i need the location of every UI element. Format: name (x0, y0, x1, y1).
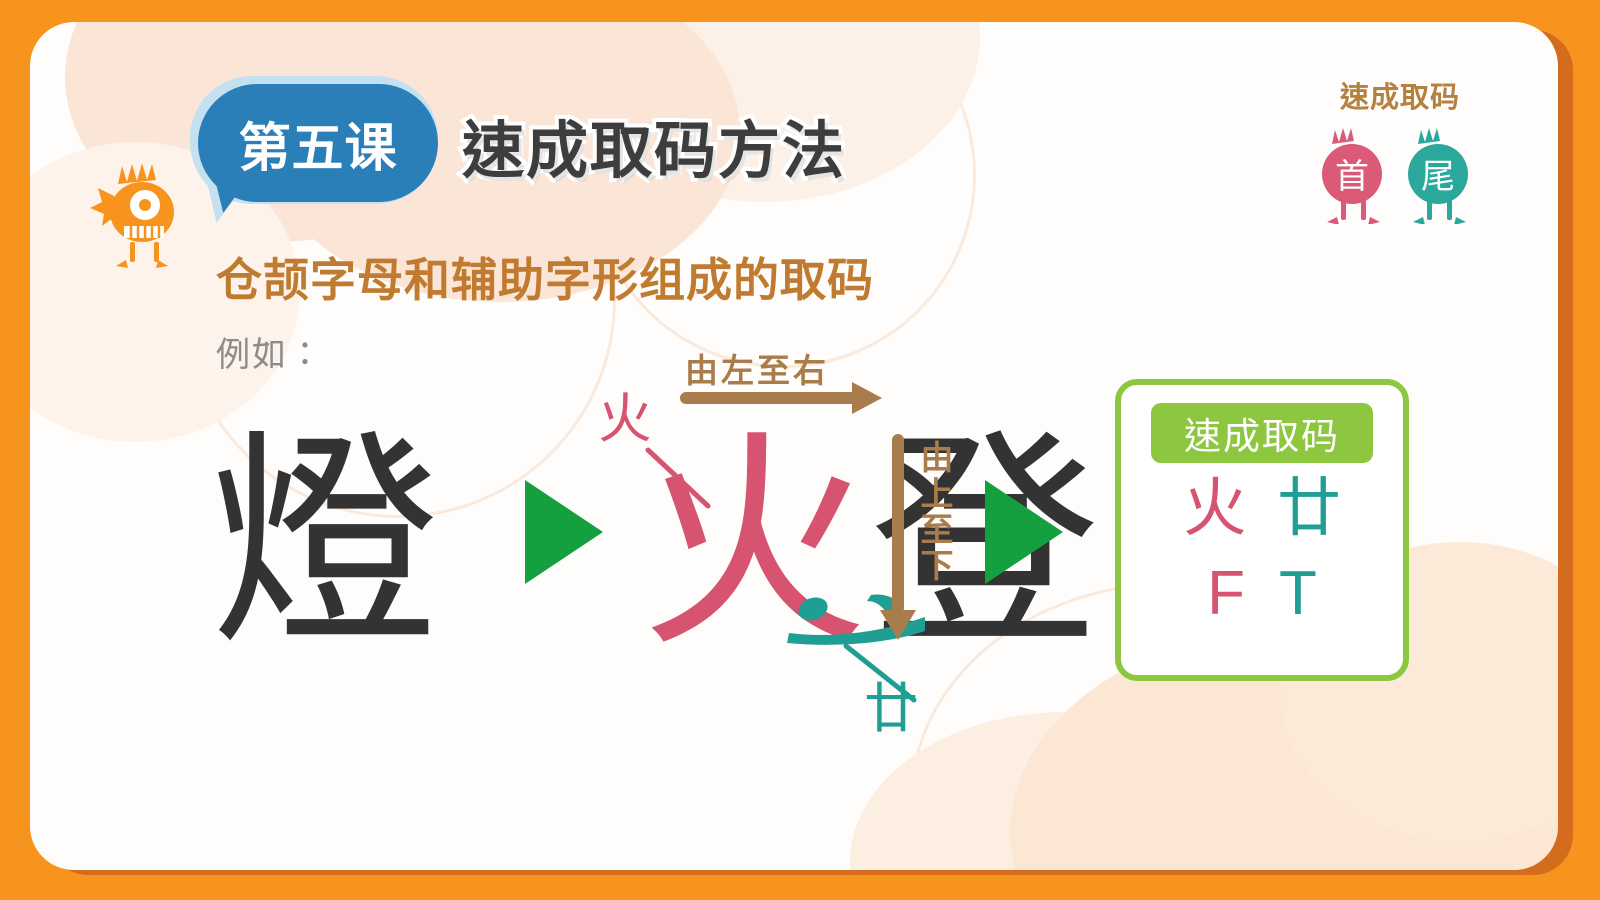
result-letter-row: F T (1121, 563, 1403, 625)
result-glyph-first: 火 (1183, 477, 1247, 541)
callout-last-code: 廿 (864, 682, 918, 736)
lesson-badge: 第五课 (198, 84, 438, 214)
direction-vertical-arrow-icon (892, 434, 904, 614)
brand-logo: 速成取码 首 尾 (1310, 74, 1490, 224)
step-arrow-2-icon (985, 480, 1063, 584)
subtitle: 仓颉字母和辅助字形组成的取码 (216, 244, 874, 310)
direction-horizontal-label: 由左至右 (685, 344, 829, 392)
slide-card: 第五课 速成取码方法 仓颉字母和辅助字形组成的取码 例如： 速成取码 首 (30, 22, 1558, 870)
page-title: 速成取码方法 (462, 100, 846, 190)
bubble-body: 第五课 (198, 84, 438, 202)
result-box: 速成取码 火 廿 F T (1115, 379, 1409, 681)
brand-mascot-last-label: 尾 (1421, 157, 1455, 197)
result-badge: 速成取码 (1151, 403, 1373, 463)
lesson-badge-label: 第五课 (238, 106, 397, 181)
example-label: 例如： (216, 327, 324, 376)
direction-vertical-label: 由上至下 (910, 440, 958, 584)
result-letter-last: T (1279, 563, 1317, 625)
step-arrow-1-icon (525, 480, 603, 584)
brand-mascots-icon: 首 尾 (1310, 118, 1490, 224)
callout-first-code: 火 (598, 392, 652, 446)
example-diagram: 燈 由左至右 火登 由上至下 火 (180, 382, 1470, 762)
result-glyph-row: 火 廿 (1121, 477, 1403, 541)
callout-first-leader-line (642, 444, 722, 514)
brand-mascot-first-label: 首 (1335, 157, 1369, 197)
source-character: 燈 (210, 430, 440, 660)
result-letter-first: F (1207, 563, 1245, 625)
brand-title: 速成取码 (1310, 74, 1490, 116)
slide-root: 第五课 速成取码方法 仓颉字母和辅助字形组成的取码 例如： 速成取码 首 (0, 0, 1600, 900)
result-glyph-last: 廿 (1277, 477, 1341, 541)
direction-horizontal-arrow-icon (680, 392, 860, 404)
direction-vertical-arrow-head-icon (880, 610, 916, 640)
direction-horizontal-arrow-head-icon (852, 382, 882, 414)
